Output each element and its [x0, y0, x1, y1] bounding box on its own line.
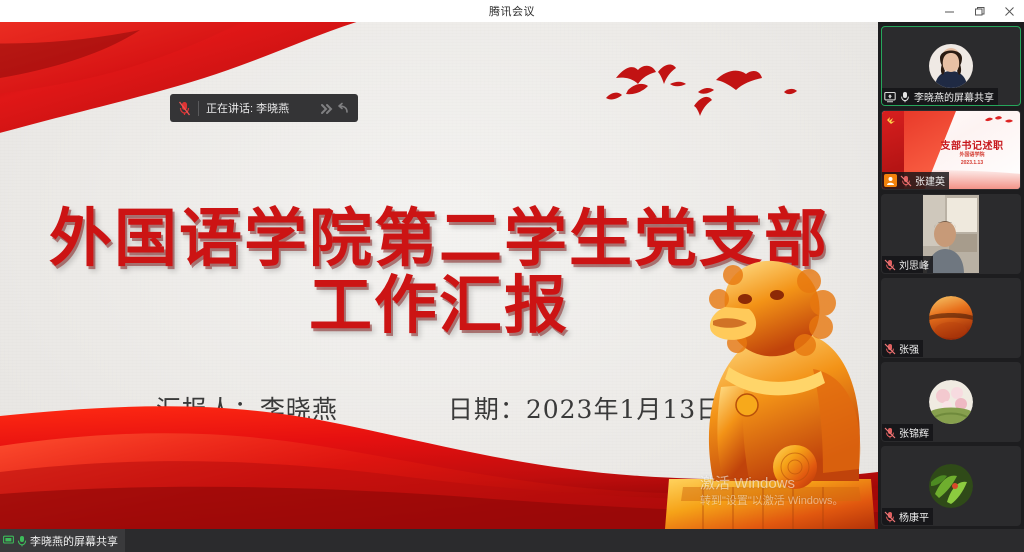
- mini-slide-sub2: 2023.1.13: [926, 160, 1018, 168]
- microphone-green-icon: [17, 535, 27, 547]
- party-emblem-icon: [884, 113, 898, 127]
- avatar: [929, 296, 973, 340]
- taskbar[interactable]: 李晓燕的屏幕共享: [0, 529, 1024, 552]
- pill-actions[interactable]: [320, 102, 350, 115]
- restore-button[interactable]: [964, 0, 994, 22]
- participant-tile-zhangqiang[interactable]: 张强: [881, 278, 1021, 358]
- participant-tile-zhangjianying[interactable]: 支部书记述职 外国语学院 2023.1.13: [881, 110, 1021, 190]
- avatar: [929, 380, 973, 424]
- participant-rail[interactable]: 李晓燕的屏幕共享 支部书记述职 外: [878, 22, 1024, 529]
- microphone-muted-icon: [884, 259, 896, 271]
- minimize-button[interactable]: [934, 0, 964, 22]
- tile-namebar: 张锦辉: [882, 424, 933, 441]
- tile-namebar: 李晓燕的屏幕共享: [882, 88, 998, 105]
- flying-birds-decoration: [598, 50, 798, 145]
- tile-namebar: 张建英: [882, 172, 949, 189]
- tencent-meeting-window: 腾讯会议: [0, 0, 1024, 552]
- participant-name: 张强: [899, 341, 919, 356]
- participant-name: 张锦辉: [899, 425, 929, 440]
- participant-tile-screen-share[interactable]: 李晓燕的屏幕共享: [881, 26, 1021, 106]
- participant-tile-zhangjinhui[interactable]: 张锦辉: [881, 362, 1021, 442]
- close-button[interactable]: [994, 0, 1024, 22]
- participant-tile-liusifeng[interactable]: 刘思峰: [881, 194, 1021, 274]
- taskbar-share-item[interactable]: 李晓燕的屏幕共享: [0, 529, 125, 552]
- participant-name: 李晓燕的屏幕共享: [914, 89, 994, 104]
- avatar: [929, 464, 973, 508]
- mini-slide-subtitle: 外国语学院 2023.1.13: [926, 152, 1018, 167]
- avatar: [929, 44, 973, 88]
- microphone-icon: [899, 91, 911, 103]
- microphone-muted-red-icon: [178, 101, 191, 116]
- microphone-muted-icon: [900, 175, 912, 187]
- screen-share-green-icon: [3, 535, 14, 546]
- microphone-muted-icon: [884, 511, 896, 523]
- tile-namebar: 张强: [882, 340, 923, 357]
- window-controls: [934, 0, 1024, 22]
- microphone-muted-icon: [884, 343, 896, 355]
- golden-lion-statue-decoration: [663, 229, 878, 529]
- participant-name: 张建英: [915, 173, 945, 188]
- participant-name: 刘思峰: [899, 257, 929, 272]
- title-bar: 腾讯会议: [0, 0, 1024, 22]
- speaking-label: 正在讲话: 李晓燕: [206, 100, 313, 116]
- presentation-slide: 外国语学院第二学生党支部 工作汇报 汇报人：李晓燕 日期：2023年1月13日: [0, 22, 878, 529]
- microphone-muted-icon: [884, 427, 896, 439]
- window-title: 腾讯会议: [489, 3, 535, 19]
- participant-name: 杨康平: [899, 509, 929, 524]
- mini-slide-title: 支部书记述职: [926, 137, 1018, 152]
- mini-slide-sub1: 外国语学院: [926, 152, 1018, 160]
- speaking-indicator-bar[interactable]: 正在讲话: 李晓燕: [170, 94, 358, 122]
- back-arrow-icon[interactable]: [336, 102, 350, 115]
- pill-divider: [198, 101, 199, 116]
- taskbar-share-label: 李晓燕的屏幕共享: [30, 533, 118, 549]
- tile-namebar: 杨康平: [882, 508, 933, 525]
- mini-birds-icon: [982, 114, 1016, 130]
- participant-tile-yangkangping[interactable]: 杨康平: [881, 446, 1021, 526]
- screen-share-icon: [884, 91, 896, 103]
- shared-screen-stage[interactable]: 外国语学院第二学生党支部 工作汇报 汇报人：李晓燕 日期：2023年1月13日: [0, 22, 878, 529]
- host-badge-icon: [884, 174, 897, 187]
- tile-namebar: 刘思峰: [882, 256, 933, 273]
- double-chevron-icon[interactable]: [320, 102, 335, 115]
- red-ribbon-top-decoration: [0, 22, 390, 147]
